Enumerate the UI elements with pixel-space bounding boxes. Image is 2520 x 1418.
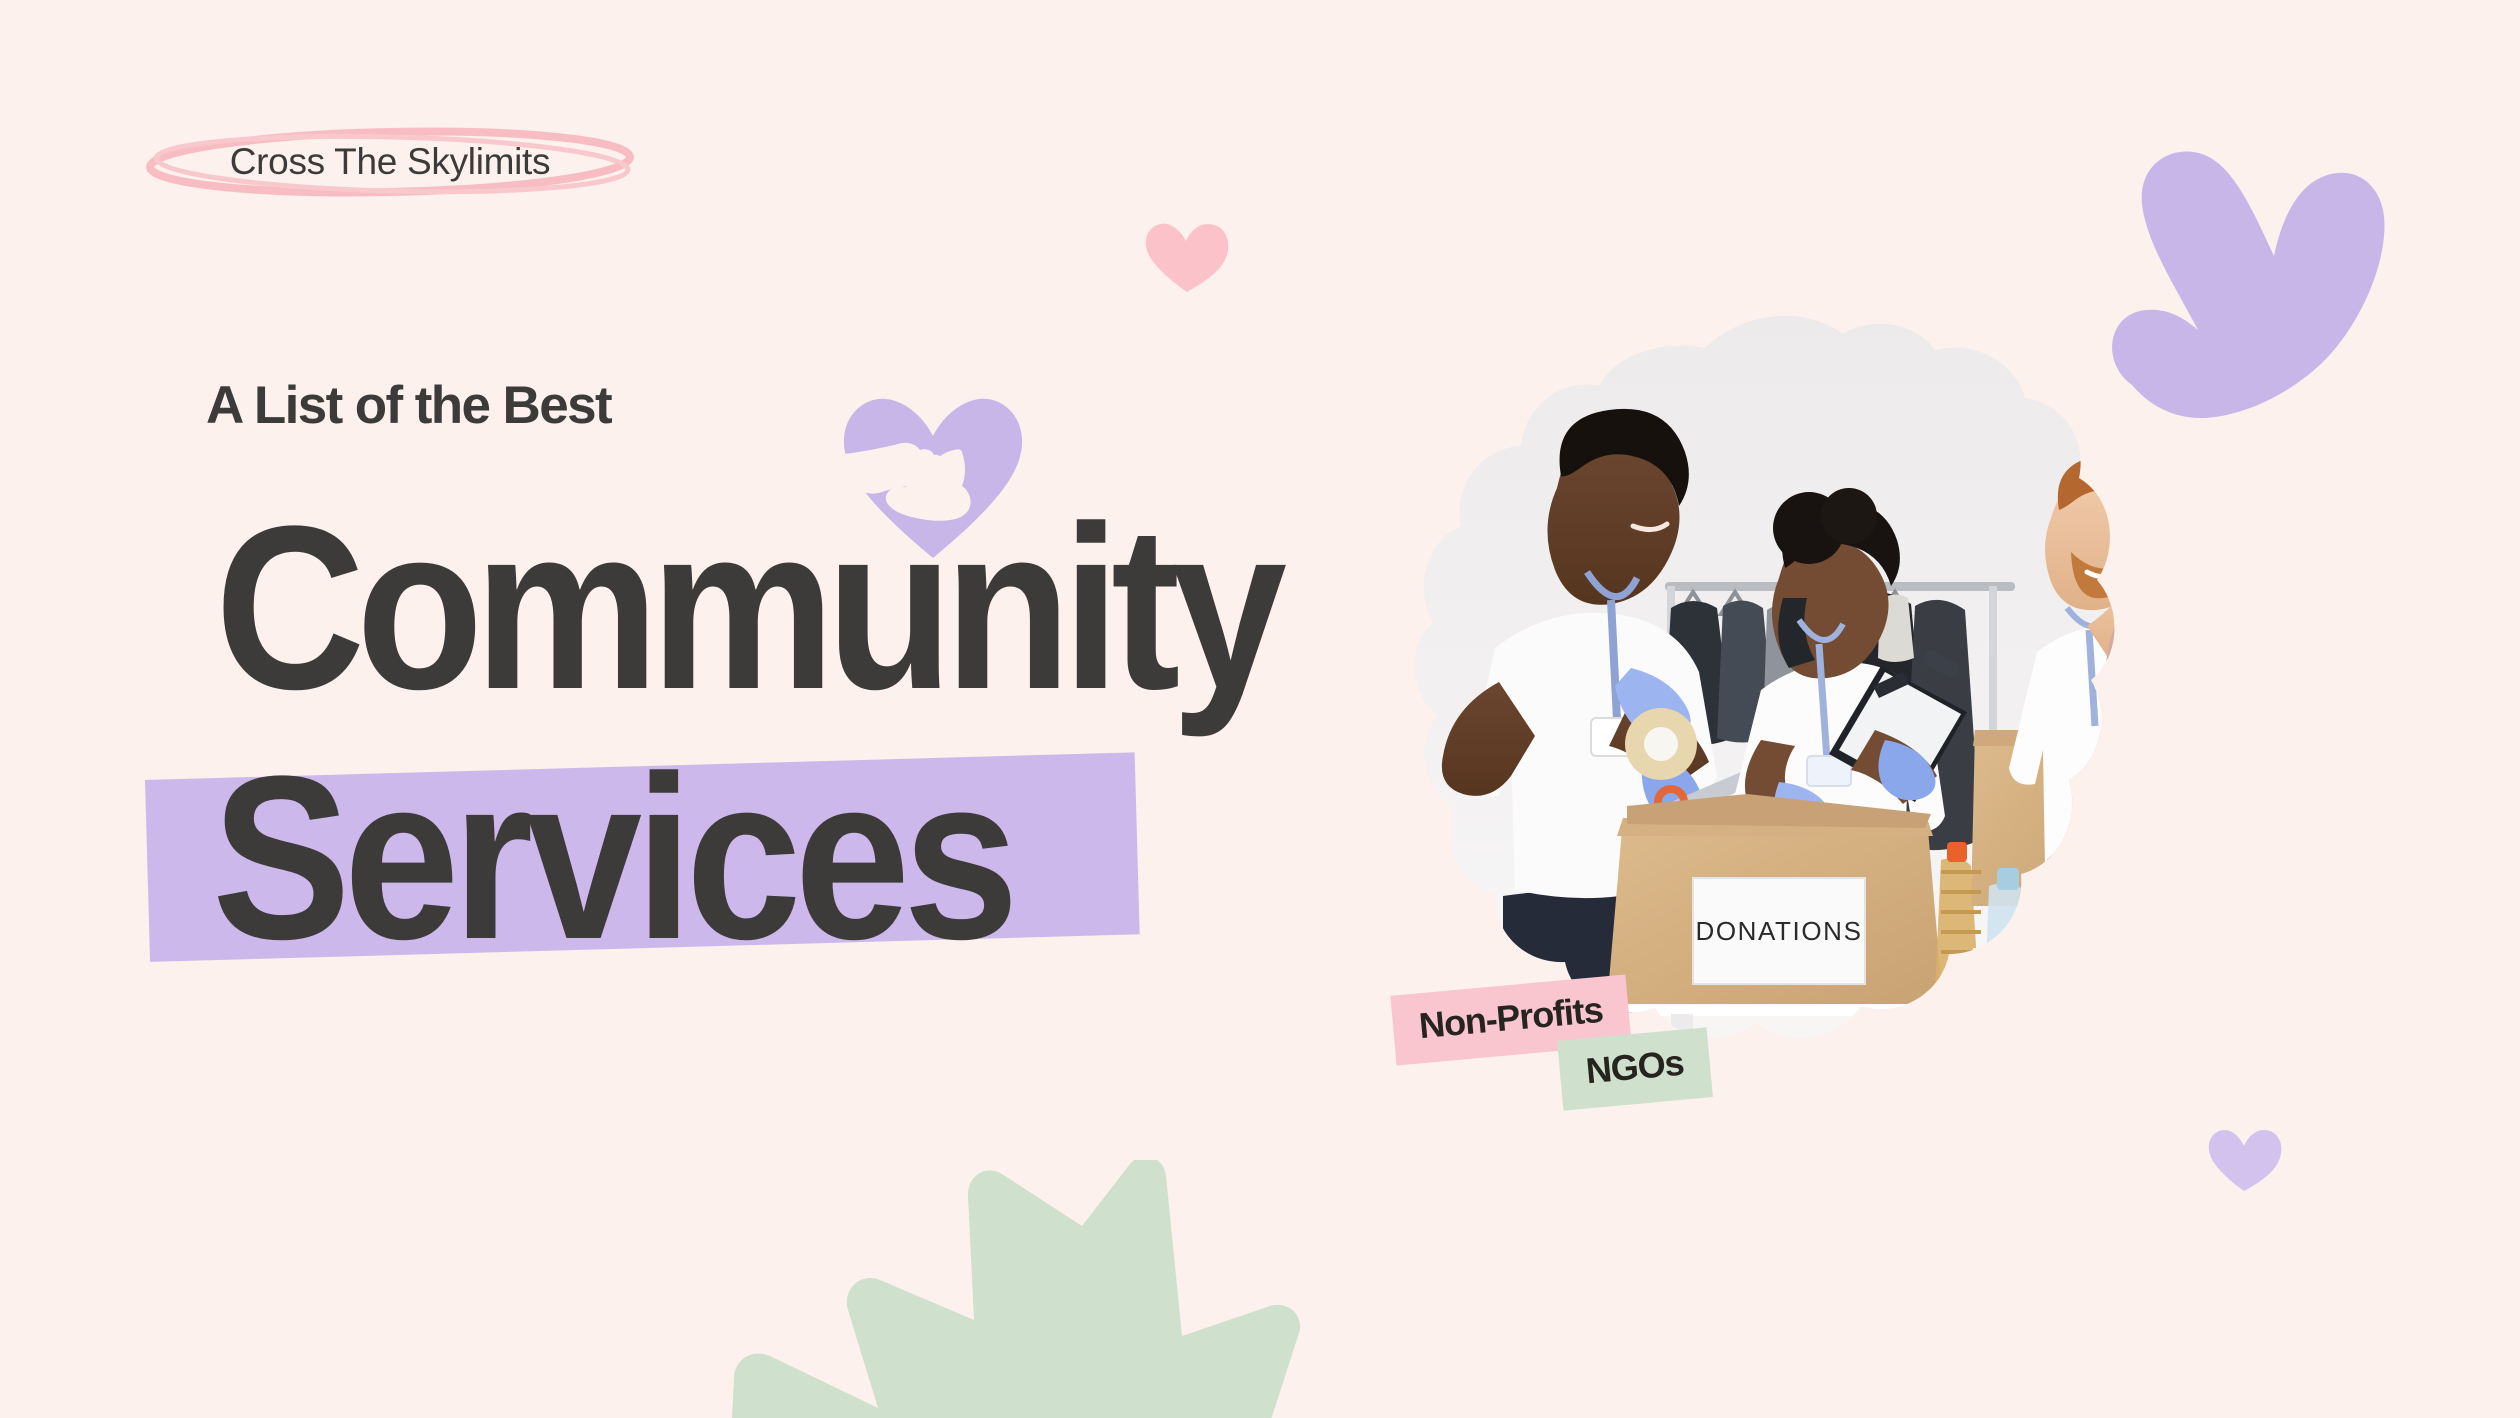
logo-text: Cross The Skylimits (140, 126, 640, 198)
brand-logo[interactable]: Cross The Skylimits (140, 126, 640, 198)
eyebrow-text: A List of the Best (206, 375, 611, 436)
page-title-line1: Community (215, 492, 1278, 725)
green-leaf-decoration-icon (730, 1160, 1350, 1418)
page-title-line2: Services (212, 742, 1012, 975)
small-pink-heart-icon (1142, 218, 1232, 296)
tag-ngos[interactable]: NGOs (1557, 1027, 1712, 1110)
svg-text:DONATIONS: DONATIONS (1695, 916, 1862, 946)
poster-canvas: Cross The Skylimits A List of the Best C… (0, 0, 2520, 1418)
small-purple-heart-icon (2205, 1125, 2283, 1195)
